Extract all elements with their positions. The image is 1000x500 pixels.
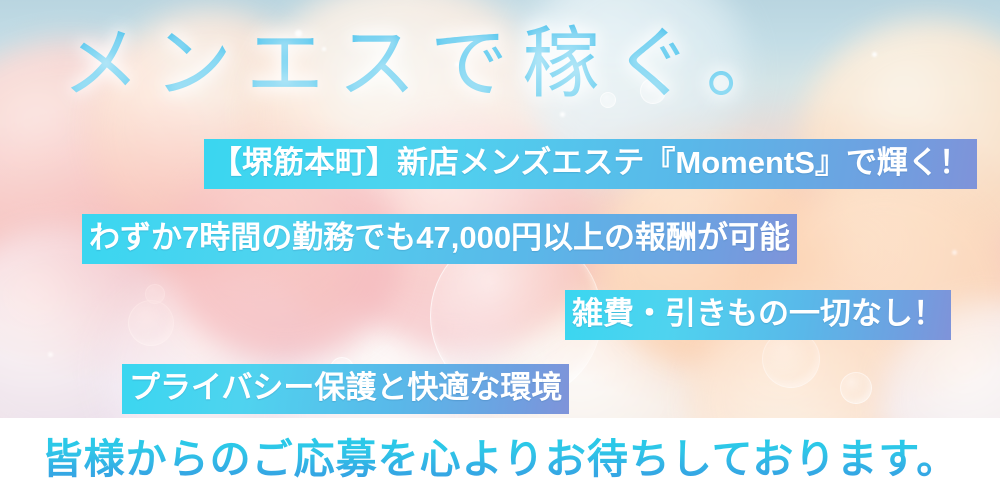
benefit-line-1: 【堺筋本町】新店メンズエステ『MomentS』で輝く！ (204, 139, 977, 189)
sparkle (872, 52, 877, 57)
sparkle (48, 352, 53, 357)
headline: メンエスで稼ぐ。 (62, 8, 798, 120)
bubble (840, 372, 872, 404)
recruitment-banner: メンエスで稼ぐ。 【堺筋本町】新店メンズエステ『MomentS』で輝く！ わずか… (0, 0, 1000, 500)
benefit-line-2: わずか7時間の勤務でも47,000円以上の報酬が可能 (82, 214, 797, 264)
benefit-line-4: プライバシー保護と快適な環境 (122, 364, 569, 414)
bubble (128, 300, 174, 346)
sparkle (952, 250, 957, 255)
bubble (145, 284, 165, 304)
benefit-line-3: 雑費・引きもの一切なし！ (565, 290, 951, 340)
cta-message: 皆様からのご応募を心よりお待ちしております。 (42, 431, 959, 487)
cta-band: 皆様からのご応募を心よりお待ちしております。 (0, 418, 1000, 500)
